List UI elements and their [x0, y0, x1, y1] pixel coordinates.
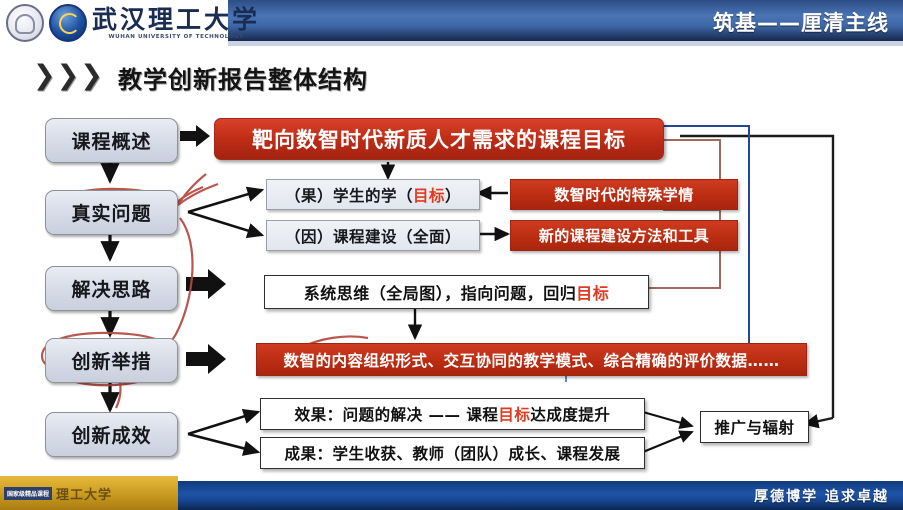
slide-header: 筑基——厘清主线 武汉理工大学 WUHAN UNIVERSITY OF TECH… [0, 0, 903, 46]
effect-row-student-learning[interactable]: （果）学生的学（目标） [266, 179, 480, 210]
outcome-effect-prefix: 效果：问题的解决 —— 课程 [295, 403, 499, 425]
goal-banner[interactable]: 靶向数智时代新质人才需求的课程目标 [214, 118, 664, 160]
stage-box-innovation-results[interactable]: 创新成效 [45, 412, 178, 457]
slide-canvas: 筑基——厘清主线 武汉理工大学 WUHAN UNIVERSITY OF TECH… [0, 0, 903, 510]
stage-box-real-problem[interactable]: 真实问题 [45, 190, 178, 235]
stage-box-course-overview[interactable]: 课程概述 [45, 118, 178, 163]
footer-gold-block: 国家级精品课程 理工大学 [0, 476, 178, 510]
triple-chevron-icon: ❯❯❯ [33, 62, 103, 89]
university-crest-icon [6, 4, 44, 42]
systems-thinking-highlight: 目标 [576, 280, 609, 304]
university-name-cn: 武汉理工大学 [92, 7, 260, 32]
university-emblem-icon [49, 4, 87, 42]
university-name-block: 武汉理工大学 WUHAN UNIVERSITY OF TECHNOLOGY [92, 7, 260, 43]
header-bar-edge [228, 41, 903, 46]
outcome-effect-highlight: 目标 [498, 403, 530, 425]
university-logo-group: 武汉理工大学 WUHAN UNIVERSITY OF TECHNOLOGY [6, 4, 260, 42]
footer-badge: 国家级精品课程 [4, 487, 52, 500]
outcome-row-effect[interactable]: 效果：问题的解决 —— 课程目标达成度提升 [260, 398, 645, 430]
university-name-en: WUHAN UNIVERSITY OF TECHNOLOGY [108, 35, 243, 41]
context-box-methods-tools[interactable]: 新的课程建设方法和工具 [510, 220, 738, 251]
context-box-learning-situation[interactable]: 数智时代的特殊学情 [510, 179, 738, 210]
footer-university-mini-name: 理工大学 [56, 484, 112, 503]
systems-thinking-prefix: 系统思维（全局图），指向问题，回归 [304, 280, 577, 304]
measures-bar[interactable]: 数智的内容组织形式、交互协同的教学模式、综合精确的评价数据…… [256, 343, 807, 376]
header-section-title: 筑基——厘清主线 [713, 7, 889, 37]
stage-box-innovation-measures[interactable]: 创新举措 [45, 338, 178, 383]
effect-row-text-prefix: （果）学生的学（ [285, 184, 413, 206]
effect-row-text-suffix: ） [445, 184, 461, 206]
outcome-effect-suffix: 达成度提升 [530, 403, 610, 425]
outcome-row-achievement[interactable]: 成果：学生收获、教师（团队）成长、课程发展 [260, 437, 645, 469]
effect-row-text-highlight: 目标 [413, 184, 445, 206]
radiation-box[interactable]: 推广与辐射 [700, 411, 809, 443]
page-title: 教学创新报告整体结构 [118, 60, 368, 95]
footer-motto: 厚德博学 追求卓越 [754, 486, 889, 506]
slide-footer: 国家级精品课程 理工大学 厚德博学 追求卓越 [0, 476, 903, 510]
systems-thinking-box[interactable]: 系统思维（全局图），指向问题，回归目标 [264, 275, 649, 309]
stage-box-solution-approach[interactable]: 解决思路 [45, 266, 178, 311]
cause-row-course-construction[interactable]: （因）课程建设（全面） [266, 220, 480, 251]
